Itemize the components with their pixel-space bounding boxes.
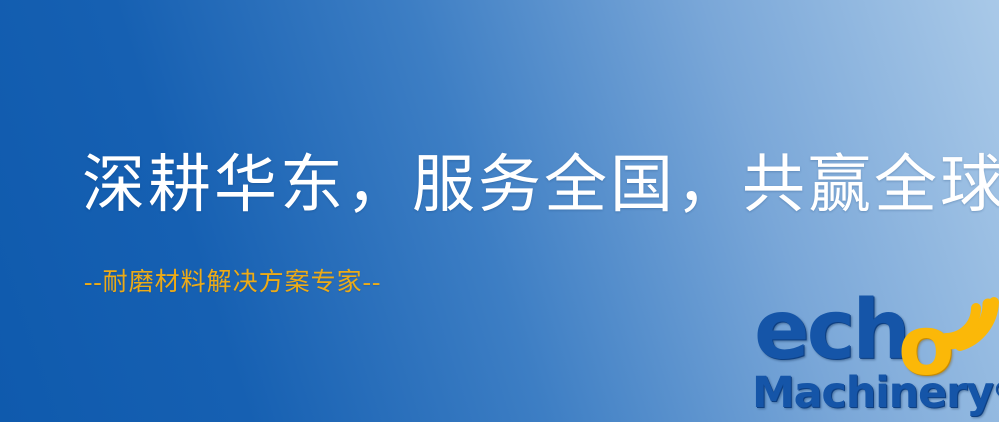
promo-banner: 深耕华东，服务全国，共赢全球 --耐磨材料解决方案专家-- ech o Mach… [0, 0, 999, 422]
banner-subtitle: --耐磨材料解决方案专家-- [84, 268, 381, 298]
banner-headline: 深耕华东，服务全国，共赢全球 [82, 152, 999, 218]
logo-machinery-text: Machinery® [752, 372, 999, 415]
logo-wordmark: ech o [752, 292, 992, 378]
logo-echo-letters: ech [754, 290, 908, 372]
echo-machinery-logo: ech o Machinery® [752, 292, 992, 418]
echo-waves-icon [938, 288, 999, 354]
registered-trademark-icon: ® [993, 378, 999, 402]
logo-machinery-label: Machinery [752, 368, 993, 418]
